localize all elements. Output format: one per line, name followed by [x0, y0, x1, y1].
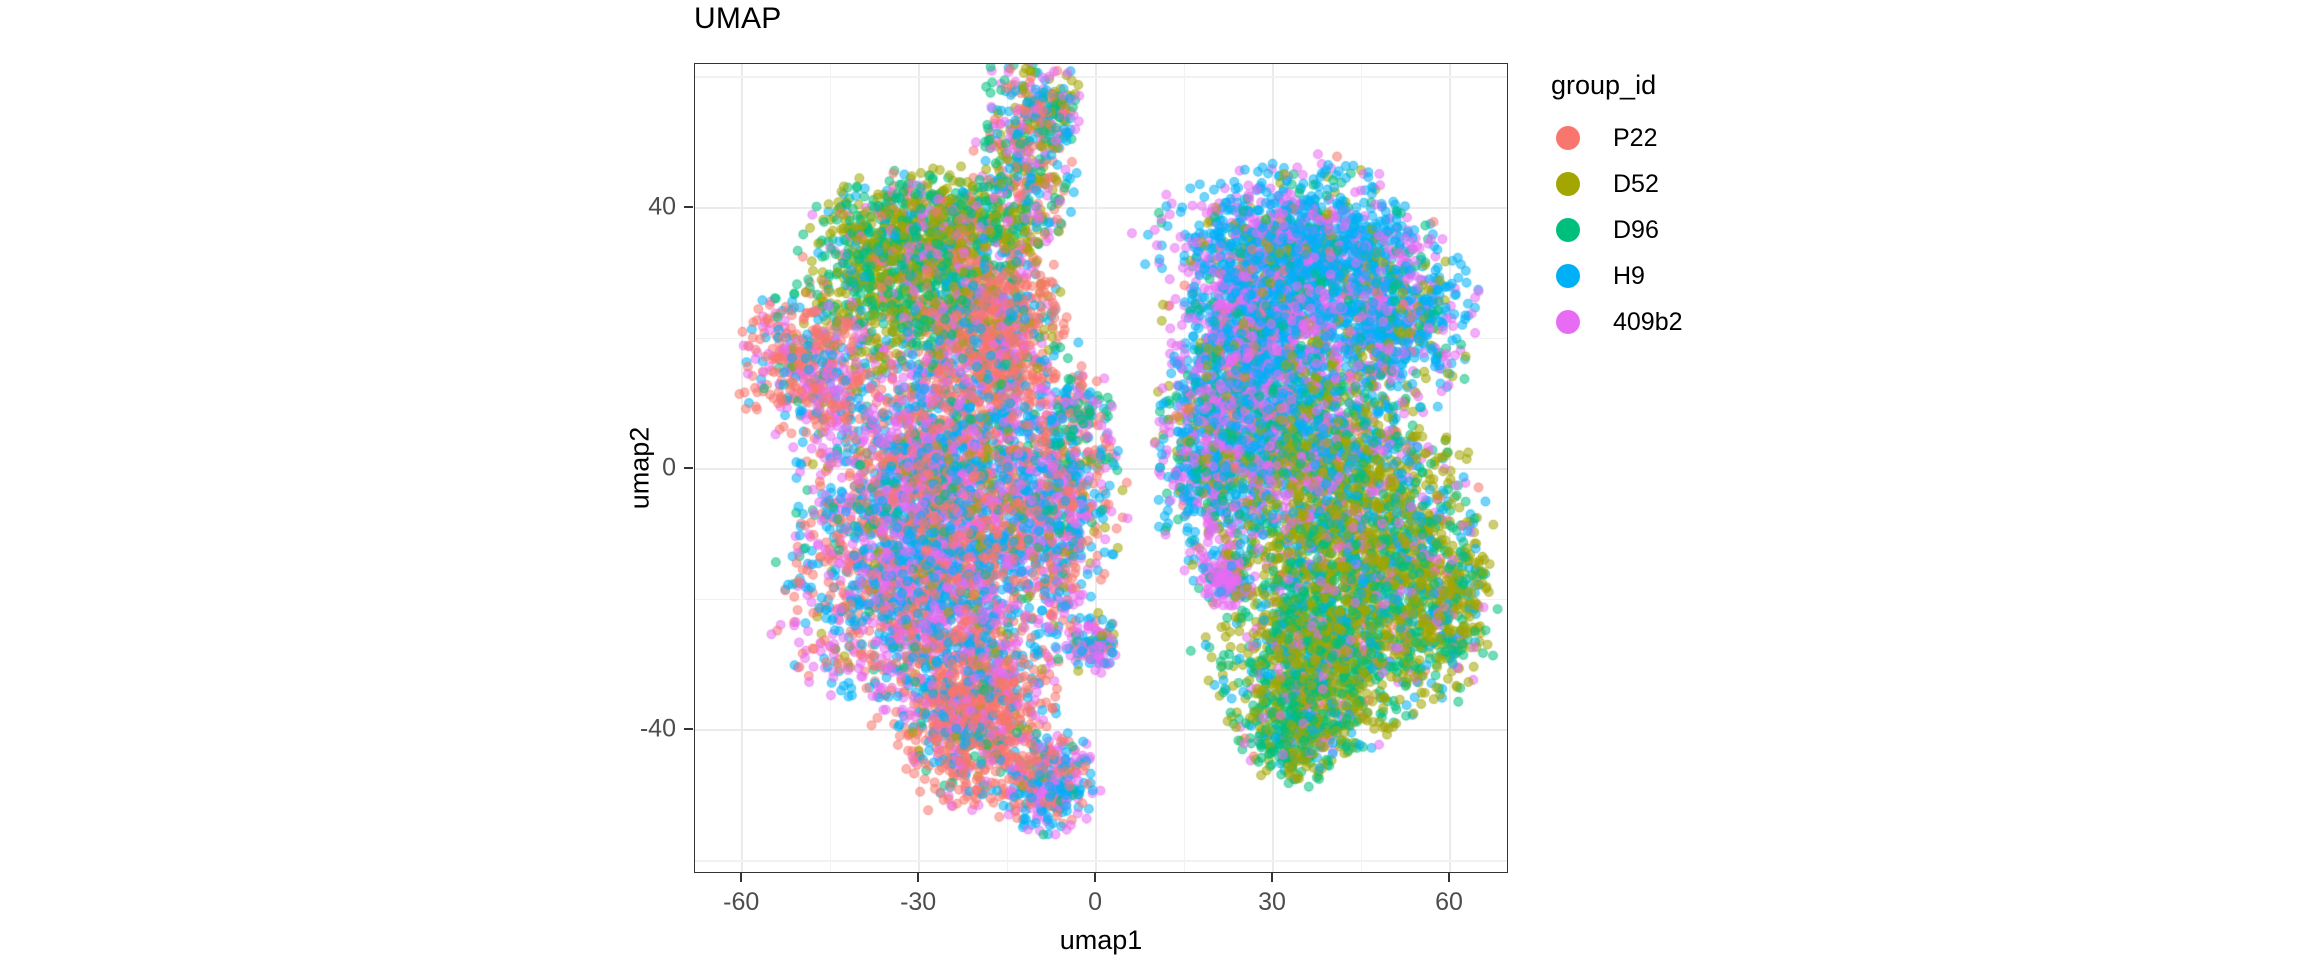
- x-tick-mark: [917, 873, 919, 882]
- legend-key-icon: [1545, 299, 1591, 345]
- plot-panel: [694, 63, 1508, 873]
- x-axis-title: umap1: [694, 925, 1508, 956]
- legend-color-dot: [1556, 218, 1580, 242]
- legend-item[interactable]: D96: [1545, 207, 1845, 253]
- legend-item-label: 409b2: [1613, 308, 1683, 337]
- legend-key-icon: [1545, 115, 1591, 161]
- legend-color-dot: [1556, 264, 1580, 288]
- legend-item[interactable]: H9: [1545, 253, 1845, 299]
- legend-key-icon: [1545, 207, 1591, 253]
- legend-item-label: H9: [1613, 262, 1645, 291]
- x-tick-label: 60: [1435, 888, 1463, 917]
- y-tick-mark: [684, 206, 693, 208]
- legend-key-icon: [1545, 161, 1591, 207]
- legend-items: P22D52D96H9409b2: [1545, 115, 1845, 345]
- legend-color-dot: [1556, 310, 1580, 334]
- chart-root: UMAP -60-3003060400-40 umap1 umap2 group…: [0, 0, 2304, 960]
- scatter-points-canvas: [695, 64, 1508, 873]
- page-title: UMAP: [694, 2, 781, 36]
- y-tick-label: -40: [640, 715, 676, 744]
- legend-color-dot: [1556, 126, 1580, 150]
- x-tick-label: -30: [900, 888, 936, 917]
- x-tick-mark: [1094, 873, 1096, 882]
- x-tick-label: 0: [1088, 888, 1102, 917]
- y-tick-label: 40: [648, 192, 676, 221]
- x-tick-mark: [1448, 873, 1450, 882]
- legend-item[interactable]: D52: [1545, 161, 1845, 207]
- x-tick-label: 30: [1258, 888, 1286, 917]
- legend-item[interactable]: P22: [1545, 115, 1845, 161]
- x-tick-label: -60: [723, 888, 759, 917]
- y-tick-label: 0: [662, 454, 676, 483]
- x-tick-mark: [1271, 873, 1273, 882]
- y-tick-mark: [684, 728, 693, 730]
- legend-title: group_id: [1551, 70, 1845, 101]
- y-tick-mark: [684, 467, 693, 469]
- legend-color-dot: [1556, 172, 1580, 196]
- legend-item-label: P22: [1613, 124, 1657, 153]
- legend-item[interactable]: 409b2: [1545, 299, 1845, 345]
- legend-key-icon: [1545, 253, 1591, 299]
- y-axis-title: umap2: [625, 427, 656, 510]
- legend-item-label: D96: [1613, 216, 1659, 245]
- x-tick-mark: [740, 873, 742, 882]
- legend-item-label: D52: [1613, 170, 1659, 199]
- legend: group_id P22D52D96H9409b2: [1545, 70, 1845, 345]
